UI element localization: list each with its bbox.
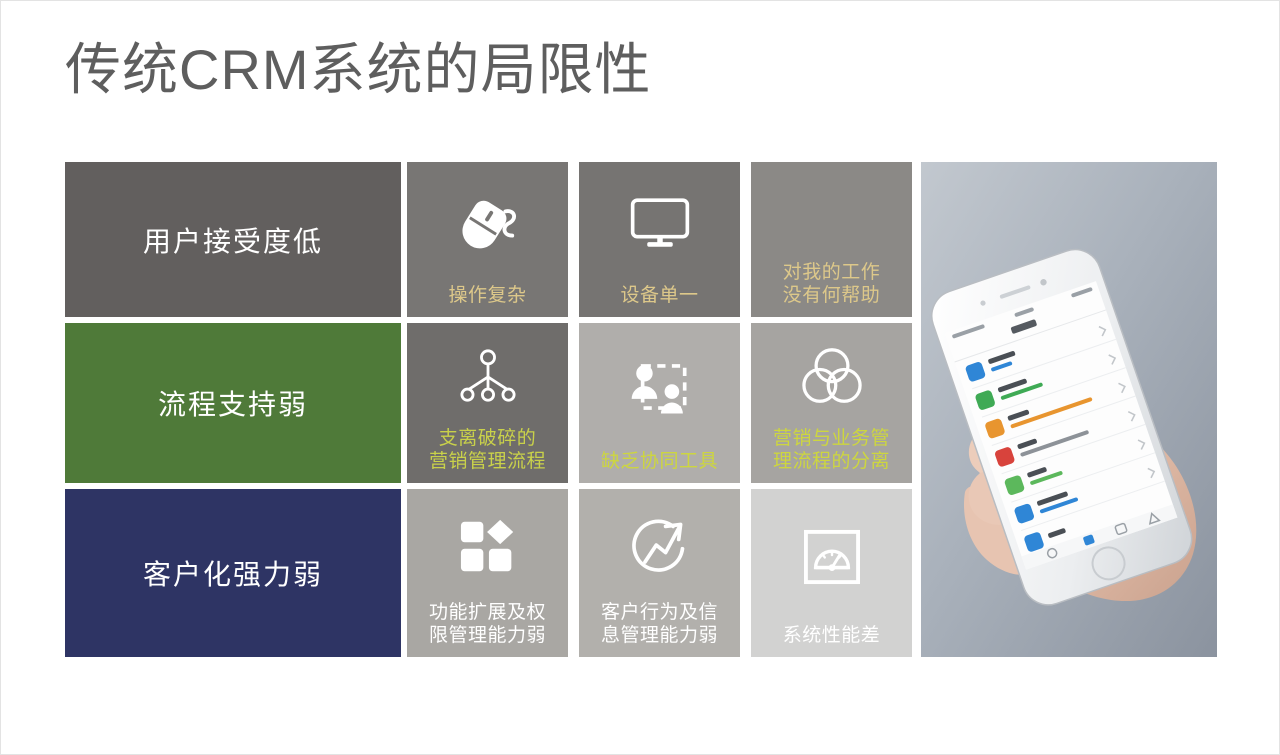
gauge-icon	[751, 489, 912, 625]
card-label: 缺乏协同工具	[579, 451, 740, 475]
card-label: 操作复杂	[407, 285, 568, 309]
venn-circles-icon	[751, 323, 912, 428]
card-customer-behavior-info-weak: 客户行为及信 息管理能力弱	[579, 489, 740, 657]
card-marketing-business-separation: 营销与业务管 理流程的分离	[751, 323, 912, 483]
card-label: 设备单一	[579, 285, 740, 309]
presentation-slide: 传统CRM系统的局限性 用户接受度低 流程支持弱 客户化强力弱 操作复杂	[0, 0, 1280, 755]
card-label: 营销与业务管 理流程的分离	[751, 428, 912, 475]
category-label: 客户化强力弱	[143, 553, 323, 593]
collaboration-icon	[579, 323, 740, 451]
modules-icon	[407, 489, 568, 602]
card-feature-permission-weak: 功能扩展及权 限管理能力弱	[407, 489, 568, 657]
card-label: 系统性能差	[751, 625, 912, 649]
card-label: 对我的工作 没有何帮助	[751, 262, 912, 309]
no-icon-placeholder	[751, 162, 912, 262]
growth-arrow-icon	[579, 489, 740, 602]
card-fragmented-marketing-process: 支离破碎的 营销管理流程	[407, 323, 568, 483]
category-panel-user-acceptance: 用户接受度低	[65, 162, 401, 317]
card-operation-complex: 操作复杂	[407, 162, 568, 317]
monitor-icon	[579, 162, 740, 285]
card-label: 客户行为及信 息管理能力弱	[579, 602, 740, 649]
category-label: 流程支持弱	[158, 383, 308, 423]
hand-holding-smartphone-photo	[921, 162, 1217, 657]
org-chart-icon	[407, 323, 568, 428]
card-no-help-for-work: 对我的工作 没有何帮助	[751, 162, 912, 317]
page-title: 传统CRM系统的局限性	[65, 39, 652, 102]
card-label: 功能扩展及权 限管理能力弱	[407, 602, 568, 649]
category-panel-process-support: 流程支持弱	[65, 323, 401, 483]
card-lack-collaboration-tools: 缺乏协同工具	[579, 323, 740, 483]
category-panel-customization: 客户化强力弱	[65, 489, 401, 657]
mouse-icon	[407, 162, 568, 285]
card-single-device: 设备单一	[579, 162, 740, 317]
card-poor-system-performance: 系统性能差	[751, 489, 912, 657]
category-label: 用户接受度低	[143, 220, 323, 260]
card-label: 支离破碎的 营销管理流程	[407, 428, 568, 475]
